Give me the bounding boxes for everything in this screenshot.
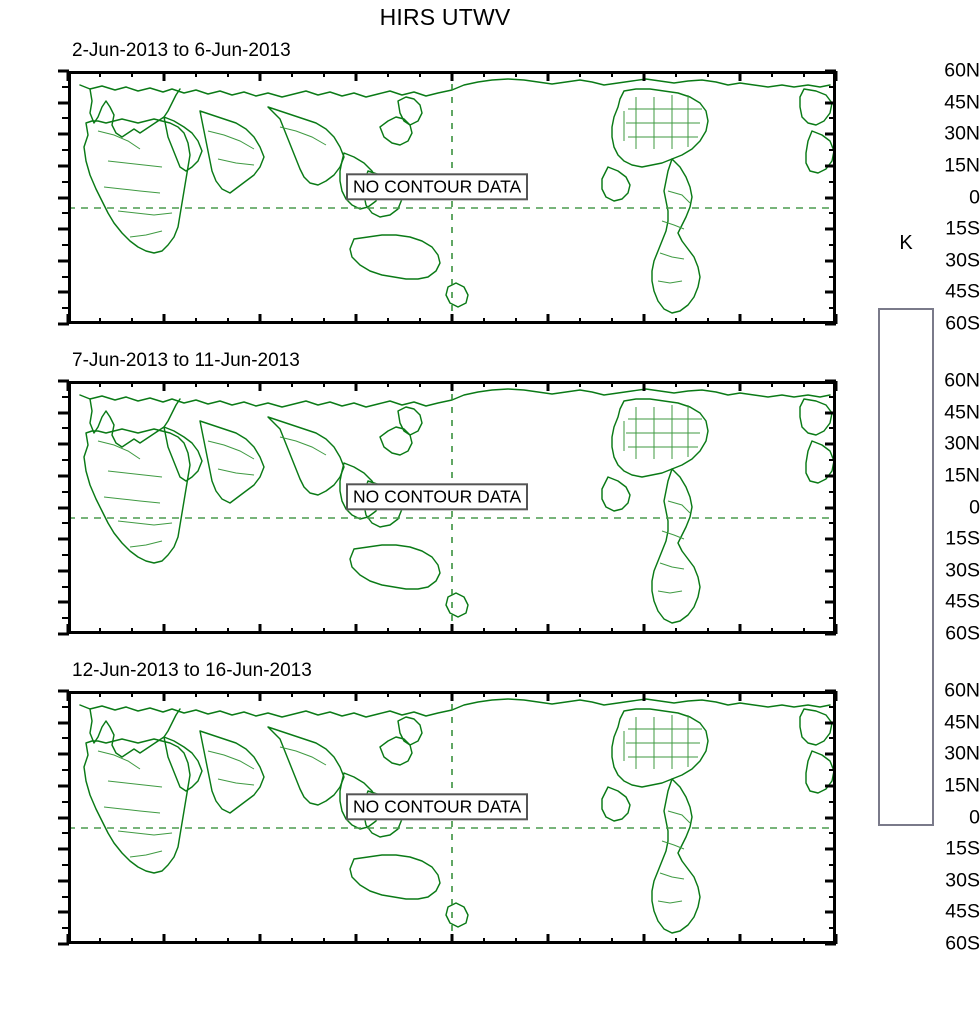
lat-tick-major — [58, 133, 69, 136]
lon-tick-minor-top — [515, 381, 517, 387]
lon-tick-minor-top — [707, 71, 709, 77]
lon-tick-minor-top — [227, 691, 229, 697]
lon-tick-major-top — [739, 691, 742, 701]
map-panel-1: NO CONTOUR DATA — [68, 71, 836, 324]
lon-tick-minor-bottom — [99, 938, 101, 944]
lon-tick-major-top — [451, 71, 454, 81]
lon-tick-major-top — [643, 381, 646, 391]
lon-tick-major-bottom — [451, 934, 454, 944]
lon-tick-minor-top — [227, 71, 229, 77]
lon-tick-major-bottom — [643, 624, 646, 634]
lat-tick-minor — [62, 86, 69, 88]
lon-tick-minor-top — [291, 381, 293, 387]
lon-tick-major-top — [739, 381, 742, 391]
lon-tick-minor-top — [515, 691, 517, 697]
lon-tick-minor-top — [707, 381, 709, 387]
lat-tick-minor-right — [829, 212, 836, 214]
lon-tick-minor-bottom — [515, 938, 517, 944]
lat-tick-major — [58, 569, 69, 572]
lon-tick-minor-bottom — [803, 938, 805, 944]
lon-tick-minor-top — [131, 71, 133, 77]
no-contour-data-label-1: NO CONTOUR DATA — [346, 173, 528, 200]
lat-tick-minor-right — [829, 117, 836, 119]
lon-tick-minor-bottom — [99, 628, 101, 634]
lon-tick-major-bottom — [451, 624, 454, 634]
lon-tick-major-top — [643, 71, 646, 81]
lat-tick-major — [58, 879, 69, 882]
lat-tick-minor — [62, 586, 69, 588]
lon-tick-minor-top — [611, 71, 613, 77]
lon-tick-minor-bottom — [675, 318, 677, 324]
lon-tick-minor-top — [483, 381, 485, 387]
lon-tick-minor-bottom — [387, 938, 389, 944]
lon-tick-minor-bottom — [387, 318, 389, 324]
lat-tick-major-right — [825, 816, 836, 819]
lon-tick-major-top — [67, 71, 70, 81]
lat-tick-major — [58, 196, 69, 199]
lon-tick-major-bottom — [259, 314, 262, 324]
lat-tick-major — [58, 784, 69, 787]
lat-tick-minor — [62, 832, 69, 834]
lon-tick-major-bottom — [355, 314, 358, 324]
lon-tick-major-bottom — [835, 624, 838, 634]
lon-tick-minor-top — [419, 691, 421, 697]
lon-tick-major-top — [355, 691, 358, 701]
lon-tick-minor-top — [579, 381, 581, 387]
lon-tick-minor-top — [803, 381, 805, 387]
lon-tick-major-bottom — [67, 624, 70, 634]
lat-tick-major — [58, 816, 69, 819]
lon-tick-minor-bottom — [483, 628, 485, 634]
lat-tick-major-right — [825, 721, 836, 724]
lon-tick-minor-top — [99, 381, 101, 387]
lon-tick-minor-bottom — [611, 938, 613, 944]
lat-tick-minor-right — [829, 86, 836, 88]
lon-tick-minor-top — [323, 71, 325, 77]
lon-tick-major-top — [643, 691, 646, 701]
lat-tick-major — [58, 753, 69, 756]
lat-tick-minor-right — [829, 769, 836, 771]
lon-tick-major-bottom — [67, 314, 70, 324]
lon-tick-major-bottom — [163, 624, 166, 634]
lat-tick-minor-right — [829, 586, 836, 588]
lat-tick-minor — [62, 276, 69, 278]
lat-tick-minor — [62, 307, 69, 309]
panel-title-2: 7-Jun-2013 to 11-Jun-2013 — [72, 350, 300, 372]
lat-tick-minor-right — [829, 276, 836, 278]
lon-tick-minor-top — [515, 71, 517, 77]
lon-tick-minor-bottom — [707, 938, 709, 944]
lat-tick-minor-right — [829, 864, 836, 866]
lat-tick-major-right — [825, 259, 836, 262]
lon-tick-major-bottom — [835, 314, 838, 324]
lon-tick-major-top — [163, 381, 166, 391]
lon-tick-major-top — [259, 381, 262, 391]
lat-tick-minor-right — [829, 459, 836, 461]
lat-tick-minor-right — [829, 706, 836, 708]
lon-tick-major-bottom — [163, 934, 166, 944]
lat-label-15s: 15S — [918, 838, 980, 861]
lat-tick-minor — [62, 117, 69, 119]
lon-tick-major-top — [355, 71, 358, 81]
lon-tick-major-bottom — [355, 934, 358, 944]
lat-tick-major — [58, 228, 69, 231]
lon-tick-minor-top — [291, 71, 293, 77]
lon-tick-minor-bottom — [707, 318, 709, 324]
lat-tick-minor — [62, 396, 69, 398]
lon-tick-minor-bottom — [579, 628, 581, 634]
lon-tick-minor-bottom — [131, 628, 133, 634]
lat-tick-major — [58, 538, 69, 541]
lon-tick-minor-top — [483, 691, 485, 697]
lat-tick-major — [58, 474, 69, 477]
lat-tick-minor — [62, 212, 69, 214]
lon-tick-minor-bottom — [227, 318, 229, 324]
lon-tick-minor-bottom — [611, 628, 613, 634]
lon-tick-minor-bottom — [579, 938, 581, 944]
lon-tick-major-top — [259, 71, 262, 81]
lat-tick-minor-right — [829, 307, 836, 309]
lat-tick-major-right — [825, 848, 836, 851]
lat-label-45n: 45N — [918, 91, 980, 114]
lat-tick-major-right — [825, 196, 836, 199]
lon-tick-minor-top — [323, 691, 325, 697]
map-panel-3: NO CONTOUR DATA — [68, 691, 836, 944]
lat-tick-minor — [62, 801, 69, 803]
colorbar — [878, 308, 934, 826]
lon-tick-minor-bottom — [515, 628, 517, 634]
lon-tick-minor-bottom — [419, 318, 421, 324]
lon-tick-major-bottom — [739, 314, 742, 324]
lon-tick-minor-bottom — [131, 318, 133, 324]
lat-tick-minor — [62, 864, 69, 866]
no-contour-data-label-3: NO CONTOUR DATA — [346, 793, 528, 820]
lon-tick-minor-bottom — [195, 628, 197, 634]
lat-tick-major-right — [825, 569, 836, 572]
lat-tick-minor — [62, 927, 69, 929]
lon-tick-major-top — [451, 381, 454, 391]
lon-tick-minor-bottom — [579, 318, 581, 324]
lon-tick-minor-bottom — [323, 628, 325, 634]
lon-tick-minor-bottom — [323, 318, 325, 324]
lat-tick-minor-right — [829, 427, 836, 429]
panel-title-3: 12-Jun-2013 to 16-Jun-2013 — [72, 660, 312, 682]
lon-tick-major-top — [451, 691, 454, 701]
lon-tick-minor-bottom — [611, 318, 613, 324]
lat-label-0: 0 — [918, 186, 980, 209]
lat-tick-major — [58, 721, 69, 724]
lat-label-45s: 45S — [918, 281, 980, 304]
lat-tick-minor — [62, 427, 69, 429]
lat-tick-minor-right — [829, 617, 836, 619]
lat-label-30s: 30S — [918, 869, 980, 892]
lon-tick-major-bottom — [67, 934, 70, 944]
lat-tick-minor — [62, 617, 69, 619]
lon-tick-major-top — [67, 381, 70, 391]
lon-tick-minor-top — [771, 71, 773, 77]
lon-tick-minor-top — [387, 691, 389, 697]
lon-tick-minor-top — [675, 691, 677, 697]
lon-tick-minor-bottom — [803, 318, 805, 324]
lat-tick-major-right — [825, 164, 836, 167]
lat-tick-minor-right — [829, 737, 836, 739]
lon-tick-minor-bottom — [99, 318, 101, 324]
lat-tick-minor — [62, 181, 69, 183]
lon-tick-minor-bottom — [195, 318, 197, 324]
lon-tick-minor-bottom — [131, 938, 133, 944]
panel-title-1: 2-Jun-2013 to 6-Jun-2013 — [72, 40, 291, 62]
lat-tick-major — [58, 601, 69, 604]
figure-canvas: HIRS UTWV 2-Jun-2013 to 6-Jun-2013 — [0, 0, 980, 1014]
lat-tick-minor-right — [829, 149, 836, 151]
lon-tick-major-bottom — [739, 624, 742, 634]
lat-tick-minor-right — [829, 554, 836, 556]
lon-tick-major-top — [835, 381, 838, 391]
lat-tick-major — [58, 506, 69, 509]
lon-tick-major-top — [163, 691, 166, 701]
lon-tick-minor-top — [707, 691, 709, 697]
lon-tick-minor-bottom — [227, 938, 229, 944]
lon-tick-major-top — [835, 71, 838, 81]
lat-tick-major-right — [825, 133, 836, 136]
lon-tick-minor-top — [99, 691, 101, 697]
colorbar-unit-label: K — [878, 232, 934, 255]
lon-tick-minor-top — [131, 381, 133, 387]
lat-tick-minor — [62, 244, 69, 246]
lat-tick-major — [58, 291, 69, 294]
lat-label-30n: 30N — [918, 123, 980, 146]
lon-tick-major-bottom — [739, 934, 742, 944]
lat-tick-major-right — [825, 474, 836, 477]
lon-tick-major-bottom — [259, 934, 262, 944]
lon-tick-major-bottom — [259, 624, 262, 634]
lon-tick-minor-top — [419, 71, 421, 77]
lon-tick-minor-bottom — [419, 938, 421, 944]
lat-tick-minor-right — [829, 522, 836, 524]
lat-tick-minor — [62, 554, 69, 556]
lon-tick-minor-bottom — [707, 628, 709, 634]
lon-tick-minor-top — [195, 691, 197, 697]
lat-tick-minor-right — [829, 801, 836, 803]
lon-tick-minor-top — [579, 71, 581, 77]
lat-tick-major — [58, 848, 69, 851]
lat-tick-major-right — [825, 506, 836, 509]
lat-tick-major-right — [825, 101, 836, 104]
lat-tick-major — [58, 101, 69, 104]
lon-tick-major-bottom — [547, 314, 550, 324]
lat-tick-minor-right — [829, 181, 836, 183]
lat-tick-major-right — [825, 784, 836, 787]
lon-tick-minor-top — [131, 691, 133, 697]
lat-tick-major-right — [825, 601, 836, 604]
lon-tick-major-top — [355, 381, 358, 391]
lon-tick-minor-top — [579, 691, 581, 697]
lat-tick-major — [58, 911, 69, 914]
lon-tick-minor-bottom — [291, 318, 293, 324]
lon-tick-minor-top — [675, 381, 677, 387]
lat-tick-major-right — [825, 291, 836, 294]
lat-tick-minor — [62, 459, 69, 461]
lon-tick-minor-bottom — [419, 628, 421, 634]
lon-tick-major-bottom — [835, 934, 838, 944]
lon-tick-minor-top — [803, 691, 805, 697]
lon-tick-minor-bottom — [771, 628, 773, 634]
lon-tick-minor-top — [771, 691, 773, 697]
lon-tick-minor-top — [803, 71, 805, 77]
lat-tick-minor — [62, 706, 69, 708]
lon-tick-minor-top — [227, 381, 229, 387]
lat-tick-minor — [62, 149, 69, 151]
lon-tick-minor-top — [195, 381, 197, 387]
lon-tick-major-bottom — [643, 934, 646, 944]
lon-tick-major-bottom — [451, 314, 454, 324]
lat-tick-minor — [62, 491, 69, 493]
lon-tick-minor-top — [323, 381, 325, 387]
lon-tick-major-top — [547, 691, 550, 701]
lat-tick-minor-right — [829, 396, 836, 398]
lon-tick-minor-top — [195, 71, 197, 77]
lon-tick-major-top — [547, 71, 550, 81]
lat-tick-minor-right — [829, 244, 836, 246]
lat-tick-major-right — [825, 879, 836, 882]
lat-tick-major — [58, 259, 69, 262]
lat-tick-major-right — [825, 538, 836, 541]
lat-tick-major-right — [825, 443, 836, 446]
lat-tick-minor-right — [829, 927, 836, 929]
lon-tick-minor-bottom — [771, 318, 773, 324]
lat-label-45s: 45S — [918, 901, 980, 924]
lon-tick-major-top — [259, 691, 262, 701]
lat-tick-major-right — [825, 411, 836, 414]
lon-tick-minor-bottom — [675, 938, 677, 944]
lat-tick-minor — [62, 737, 69, 739]
lon-tick-minor-bottom — [227, 628, 229, 634]
lat-label-60s: 60S — [918, 933, 980, 956]
lon-tick-minor-bottom — [803, 628, 805, 634]
lat-tick-minor — [62, 769, 69, 771]
lon-tick-minor-top — [611, 691, 613, 697]
lat-tick-major — [58, 443, 69, 446]
lon-tick-minor-bottom — [387, 628, 389, 634]
lon-tick-major-top — [547, 381, 550, 391]
lon-tick-minor-top — [291, 691, 293, 697]
lon-tick-major-bottom — [547, 934, 550, 944]
lat-tick-minor-right — [829, 896, 836, 898]
lon-tick-minor-top — [675, 71, 677, 77]
lon-tick-major-top — [163, 71, 166, 81]
lon-tick-minor-bottom — [323, 938, 325, 944]
lat-tick-major-right — [825, 753, 836, 756]
lon-tick-major-top — [67, 691, 70, 701]
lon-tick-minor-bottom — [771, 938, 773, 944]
lon-tick-minor-top — [483, 71, 485, 77]
lat-tick-major — [58, 164, 69, 167]
lon-tick-minor-bottom — [483, 938, 485, 944]
no-contour-data-label-2: NO CONTOUR DATA — [346, 483, 528, 510]
lon-tick-major-bottom — [547, 624, 550, 634]
lon-tick-minor-top — [99, 71, 101, 77]
lon-tick-major-bottom — [355, 624, 358, 634]
lon-tick-major-top — [835, 691, 838, 701]
lon-tick-minor-bottom — [483, 318, 485, 324]
lon-tick-major-bottom — [163, 314, 166, 324]
lon-tick-major-top — [739, 71, 742, 81]
lon-tick-major-bottom — [643, 314, 646, 324]
map-panel-2: NO CONTOUR DATA — [68, 381, 836, 634]
lon-tick-minor-top — [419, 381, 421, 387]
lat-tick-minor-right — [829, 491, 836, 493]
lon-tick-minor-top — [611, 381, 613, 387]
lat-tick-major-right — [825, 911, 836, 914]
lon-tick-minor-top — [387, 71, 389, 77]
lat-tick-major-right — [825, 228, 836, 231]
lon-tick-minor-bottom — [675, 628, 677, 634]
lat-tick-minor — [62, 522, 69, 524]
lat-label-15n: 15N — [918, 154, 980, 177]
lon-tick-minor-bottom — [291, 938, 293, 944]
lon-tick-minor-bottom — [195, 938, 197, 944]
lat-tick-minor-right — [829, 832, 836, 834]
lon-tick-minor-top — [387, 381, 389, 387]
lon-tick-minor-top — [771, 381, 773, 387]
lon-tick-minor-bottom — [515, 318, 517, 324]
lat-tick-major — [58, 411, 69, 414]
lat-label-60n: 60N — [918, 60, 980, 83]
lon-tick-minor-bottom — [291, 628, 293, 634]
page-title: HIRS UTWV — [0, 4, 890, 31]
lat-tick-minor — [62, 896, 69, 898]
